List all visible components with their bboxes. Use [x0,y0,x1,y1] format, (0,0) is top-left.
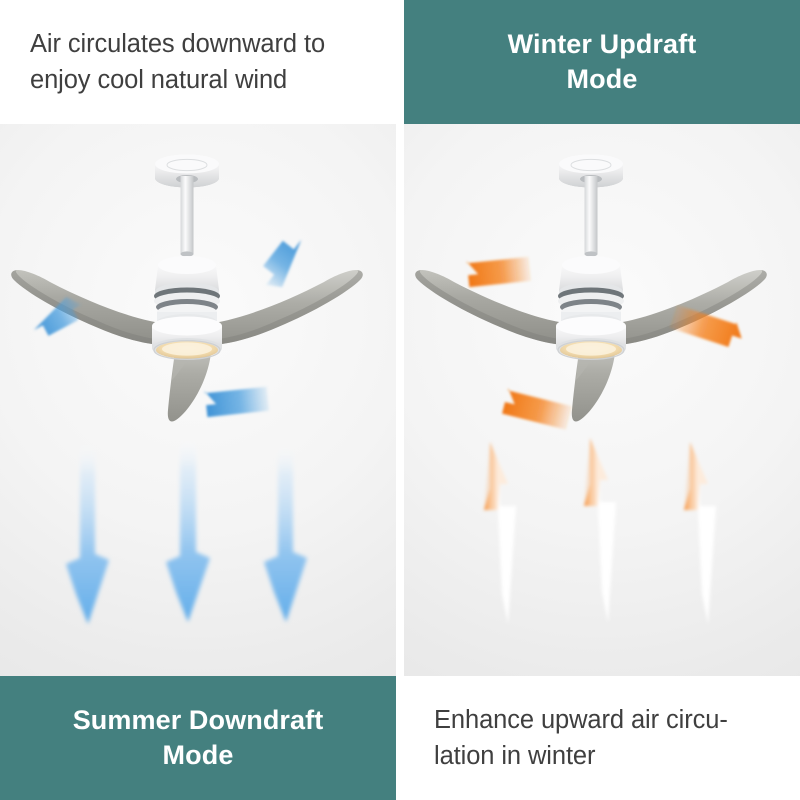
right-column-winter-mode: Winter Updraft Mode [404,0,800,800]
left-airflow-stream-3 [264,442,307,622]
left-top-caption-line-2: enjoy cool natural wind [30,66,287,94]
right-arrow-top-left [467,255,531,287]
left-airflow-stream-1 [66,442,109,624]
right-bottom-caption-text: Enhance upward air circu- lation in wint… [434,702,728,774]
right-top-caption: Winter Updraft Mode [404,0,800,124]
left-light-kit [152,317,222,360]
right-downrod [585,176,598,257]
right-top-caption-text: Winter Updraft Mode [508,27,697,97]
right-airflow-stream-1 [484,442,516,624]
right-bottom-caption: Enhance upward air circu- lation in wint… [404,676,800,800]
left-top-caption-line-1: Air circulates downward to [30,30,325,58]
right-airflow-stream-3 [684,442,716,624]
left-bottom-caption-line-2: Mode [163,740,234,770]
infographic-board: Air circulates downward to enjoy cool na… [0,0,800,800]
left-arrow-bottom [205,385,269,417]
left-top-caption: Air circulates downward to enjoy cool na… [0,0,396,124]
left-fan-illustration [0,124,396,676]
right-top-caption-line-2: Mode [567,64,638,94]
left-airflow-streams [66,436,307,624]
right-arrow-bottom-left [502,388,572,429]
right-light-kit [556,317,626,360]
left-column-summer-mode: Air circulates downward to enjoy cool na… [0,0,396,800]
right-airflow-stream-2 [584,438,616,622]
left-airflow-stream-2 [166,436,210,622]
left-top-caption-text: Air circulates downward to enjoy cool na… [30,26,325,98]
left-arrow-top-right [255,231,312,293]
left-bottom-caption: Summer Downdraft Mode [0,676,396,800]
right-fan-image-panel [404,124,800,676]
left-bottom-caption-line-1: Summer Downdraft [73,705,324,735]
right-fan-illustration [404,124,800,676]
right-bottom-caption-line-1: Enhance upward air circu- [434,706,728,734]
left-downrod [181,176,194,257]
left-fan-image-panel [0,124,396,676]
right-top-caption-line-1: Winter Updraft [508,29,697,59]
right-bottom-caption-line-2: lation in winter [434,742,595,770]
right-airflow-streams [484,438,716,624]
column-divider [396,0,404,800]
left-bottom-caption-text: Summer Downdraft Mode [73,703,324,773]
